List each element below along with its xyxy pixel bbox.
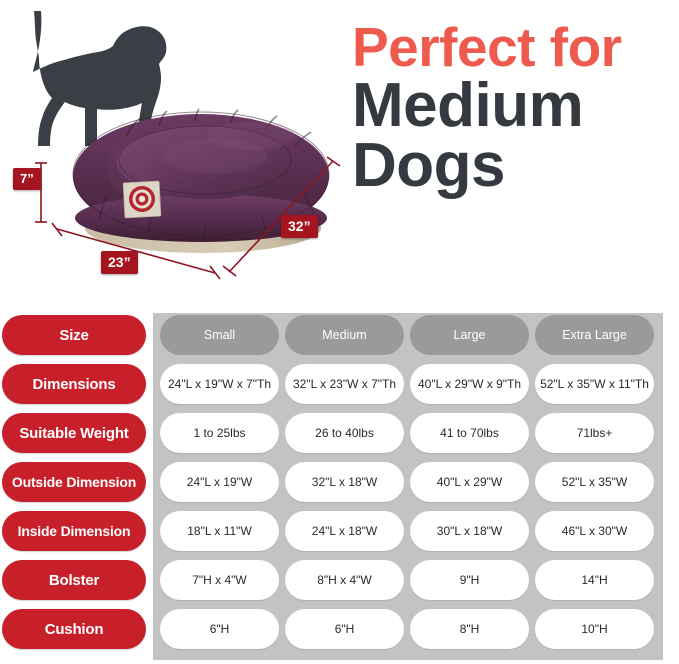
cell-cushion-medium: 6"H [285, 609, 404, 649]
infographic-root: 7” 23” 32” Perfect for Medium Dogs Size … [0, 0, 679, 664]
cell-bolster-small: 7"H x 4"W [160, 560, 279, 600]
cell-outside-large: 40"L x 29"W [410, 462, 529, 502]
cell-inside-medium: 24"L x 18"W [285, 511, 404, 551]
cell-dimensions-large: 40"L x 29"W x 9"Th [410, 364, 529, 404]
cell-inside-large: 30"L x 18"W [410, 511, 529, 551]
cell-dimensions-extra-large: 52"L x 35"W x 11"Th [535, 364, 654, 404]
table-row: 7"H x 4"W 8"H x 4"W 9"H 14"H [160, 560, 660, 600]
headline: Perfect for Medium Dogs [352, 22, 677, 194]
cell-weight-small: 1 to 25lbs [160, 413, 279, 453]
row-label-inside-dimension: Inside Dimension [2, 511, 146, 551]
cell-bolster-large: 9"H [410, 560, 529, 600]
headline-line-1: Perfect for [352, 22, 677, 73]
cell-bolster-medium: 8"H x 4"W [285, 560, 404, 600]
headline-line-2: Medium [352, 77, 677, 135]
row-label-bolster: Bolster [2, 560, 146, 600]
row-label-size: Size [2, 315, 146, 355]
table-row: 1 to 25lbs 26 to 40lbs 41 to 70lbs 71lbs… [160, 413, 660, 453]
column-header-extra-large: Extra Large [535, 315, 654, 355]
cell-weight-extra-large: 71lbs+ [535, 413, 654, 453]
cell-dimensions-small: 24"L x 19"W x 7"Th [160, 364, 279, 404]
spec-table: Size Dimensions Suitable Weight Outside … [0, 311, 679, 664]
cell-cushion-large: 8"H [410, 609, 529, 649]
cell-outside-small: 24"L x 19"W [160, 462, 279, 502]
cell-bolster-extra-large: 14"H [535, 560, 654, 600]
cell-dimensions-medium: 32"L x 23"W x 7"Th [285, 364, 404, 404]
cell-outside-extra-large: 52"L x 35"W [535, 462, 654, 502]
hero-section: 7” 23” 32” Perfect for Medium Dogs [0, 0, 679, 305]
column-header-medium: Medium [285, 315, 404, 355]
cell-outside-medium: 32"L x 18"W [285, 462, 404, 502]
cell-inside-extra-large: 46"L x 30"W [535, 511, 654, 551]
row-label-outside-dimension: Outside Dimension [2, 462, 146, 502]
table-row: 18"L x 11"W 24"L x 18"W 30"L x 18"W 46"L… [160, 511, 660, 551]
length-callout-badge: 32” [281, 215, 318, 238]
width-callout-badge: 23” [101, 251, 138, 274]
headline-line-3: Dogs [352, 137, 677, 195]
spec-value-columns: Small Medium Large Extra Large 24"L x 19… [160, 315, 660, 658]
row-label-cushion: Cushion [2, 609, 146, 649]
table-row: 6"H 6"H 8"H 10"H [160, 609, 660, 649]
spec-header-row: Small Medium Large Extra Large [160, 315, 660, 355]
column-header-large: Large [410, 315, 529, 355]
row-label-dimensions: Dimensions [2, 364, 146, 404]
cell-weight-medium: 26 to 40lbs [285, 413, 404, 453]
spec-row-label-column: Size Dimensions Suitable Weight Outside … [2, 315, 146, 658]
brand-logo-tag [123, 181, 161, 218]
column-header-small: Small [160, 315, 279, 355]
cell-weight-large: 41 to 70lbs [410, 413, 529, 453]
table-row: 24"L x 19"W 32"L x 18"W 40"L x 29"W 52"L… [160, 462, 660, 502]
row-label-suitable-weight: Suitable Weight [2, 413, 146, 453]
cell-cushion-extra-large: 10"H [535, 609, 654, 649]
cell-cushion-small: 6"H [160, 609, 279, 649]
table-row: 24"L x 19"W x 7"Th 32"L x 23"W x 7"Th 40… [160, 364, 660, 404]
height-callout-badge: 7” [13, 168, 41, 190]
cell-inside-small: 18"L x 11"W [160, 511, 279, 551]
